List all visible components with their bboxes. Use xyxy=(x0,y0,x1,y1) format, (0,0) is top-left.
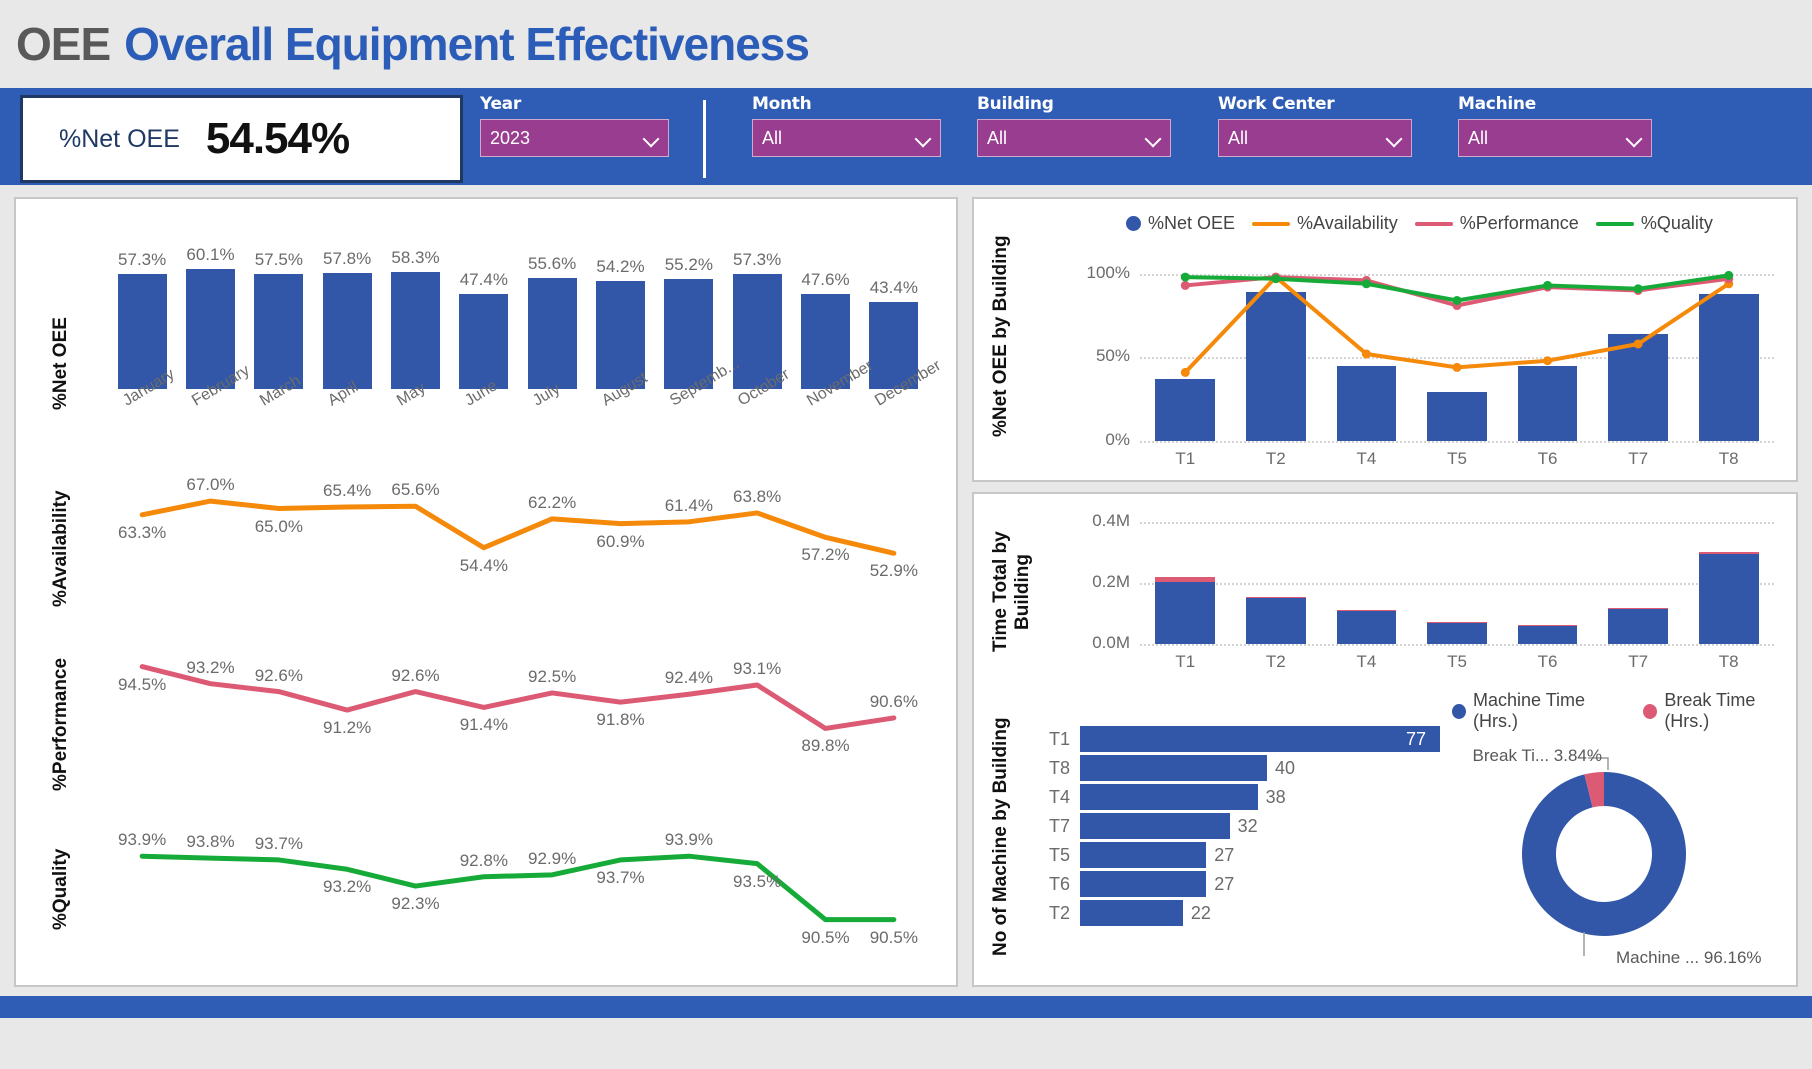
bar-value-label: 47.6% xyxy=(801,270,849,290)
chart-axis-title-net-oee: %Net OEE xyxy=(50,269,72,459)
line-value-label: 62.2% xyxy=(528,493,576,513)
legend-marker-quality xyxy=(1596,222,1634,226)
donut-label-break-time: Break Ti... 3.84% xyxy=(1222,746,1602,766)
page-header: OEE Overall Equipment Effectiveness xyxy=(0,0,1812,88)
hbar-category-label: T4 xyxy=(1034,787,1070,808)
legend-marker-availability xyxy=(1252,222,1290,226)
page-title: Overall Equipment Effectiveness xyxy=(124,17,809,71)
line-value-label: 92.6% xyxy=(255,666,303,686)
chart-machine-vs-break-donut[interactable]: Break Ti... 3.84%Machine ... 96.16% xyxy=(1444,726,1794,956)
line-value-label: 63.3% xyxy=(118,523,166,543)
donut-label-machine-time: Machine ... 96.16% xyxy=(1616,948,1762,968)
panel-bottom-metrics: Time Total by Building No of Machine by … xyxy=(972,492,1798,987)
line-value-label: 93.5% xyxy=(733,872,781,892)
slicer-month: Month All xyxy=(752,94,941,157)
legend-label-quality[interactable]: %Quality xyxy=(1641,213,1713,234)
hbar-category-label: T8 xyxy=(1034,758,1070,779)
legend-label-availability[interactable]: %Availability xyxy=(1297,213,1398,234)
panel-monthly-trends: %Net OEE %Availability %Performance %Qua… xyxy=(14,197,958,987)
line-value-label: 67.0% xyxy=(186,475,234,495)
bar-net-oee[interactable] xyxy=(459,294,508,389)
bar-value-label: 58.3% xyxy=(391,248,439,268)
line-value-label: 91.8% xyxy=(596,710,644,730)
slicer-year-value: 2023 xyxy=(490,128,530,149)
slicer-month-dropdown[interactable]: All xyxy=(752,119,941,157)
chart-axis-title-net-oee-by-building: %Net OEE by Building xyxy=(990,211,1012,461)
legend-marker-performance xyxy=(1415,222,1453,226)
line-value-label: 94.5% xyxy=(118,675,166,695)
hbar-category-label: T7 xyxy=(1034,816,1070,837)
bar-machine-count[interactable] xyxy=(1080,842,1206,868)
gridline xyxy=(1140,583,1774,585)
slicer-work-center-value: All xyxy=(1228,128,1248,149)
line-value-label: 65.0% xyxy=(255,517,303,537)
bar-machine-count[interactable] xyxy=(1080,871,1206,897)
slicer-machine: Machine All xyxy=(1458,94,1652,157)
hbar-category-label: T6 xyxy=(1034,874,1070,895)
line-series-availability xyxy=(108,444,928,604)
bar-value-label: 55.2% xyxy=(665,255,713,275)
hbar-category-label: T1 xyxy=(1034,729,1070,750)
kpi-label: %Net OEE xyxy=(59,125,180,154)
slicer-building-value: All xyxy=(987,128,1007,149)
hbar-value-label: 38 xyxy=(1266,787,1286,808)
bar-break-time[interactable] xyxy=(1427,622,1487,623)
dashboard-body: %Net OEE %Availability %Performance %Qua… xyxy=(0,185,1812,1069)
bar-value-label: 60.1% xyxy=(186,245,234,265)
bar-value-label: 57.3% xyxy=(733,250,781,270)
slicer-work-center: Work Center All xyxy=(1218,94,1412,157)
x-axis-tick-building: T2 xyxy=(1231,652,1322,672)
x-axis-tick-building: T7 xyxy=(1593,652,1684,672)
line-value-label: 91.4% xyxy=(460,715,508,735)
page-title-prefix: OEE xyxy=(16,17,110,71)
bar-break-time[interactable] xyxy=(1337,610,1397,611)
slicer-month-label: Month xyxy=(752,94,941,114)
kpi-card-net-oee: %Net OEE 54.54% xyxy=(20,95,463,183)
chevron-down-icon xyxy=(644,131,659,146)
line-value-label: 93.7% xyxy=(255,834,303,854)
line-value-label: 89.8% xyxy=(801,736,849,756)
slicer-work-center-dropdown[interactable]: All xyxy=(1218,119,1412,157)
bar-machine-time[interactable] xyxy=(1699,554,1759,644)
chart-axis-title-availability: %Availability xyxy=(50,454,72,644)
chart-performance-monthly[interactable]: 94.5%93.2%92.6%91.2%92.6%91.4%92.5%91.8%… xyxy=(108,614,928,779)
bar-net-oee[interactable] xyxy=(254,274,303,389)
bar-value-label: 57.3% xyxy=(118,250,166,270)
bar-break-time[interactable] xyxy=(1518,625,1578,626)
bar-machine-time[interactable] xyxy=(1155,582,1215,644)
legend-label-net-oee[interactable]: %Net OEE xyxy=(1148,213,1235,234)
line-value-label: 92.6% xyxy=(391,666,439,686)
legend-marker-machine-time xyxy=(1452,704,1466,719)
line-value-label: 92.8% xyxy=(460,851,508,871)
chart-net-oee-monthly[interactable]: 57.3%60.1%57.5%57.8%58.3%47.4%55.6%54.2%… xyxy=(108,219,928,389)
bar-machine-time[interactable] xyxy=(1608,609,1668,644)
bar-machine-count[interactable] xyxy=(1080,784,1258,810)
chevron-down-icon xyxy=(1387,131,1402,146)
slicer-machine-value: All xyxy=(1468,128,1488,149)
panel-net-oee-by-building: %Net OEE by Building %Net OEE %Availabil… xyxy=(972,197,1798,482)
hbar-value-label: 32 xyxy=(1238,816,1258,837)
line-value-label: 93.7% xyxy=(596,868,644,888)
filter-divider xyxy=(703,100,706,178)
bar-value-label: 57.8% xyxy=(323,249,371,269)
y-axis-tick: 0.0M xyxy=(1084,633,1130,653)
slicer-work-center-label: Work Center xyxy=(1218,94,1412,114)
line-value-label: 92.9% xyxy=(528,849,576,869)
hbar-category-label: T2 xyxy=(1034,903,1070,924)
chart-axis-title-time-total: Time Total by Building xyxy=(990,502,1034,682)
bar-machine-time[interactable] xyxy=(1337,611,1397,644)
chart-axis-title-quality: %Quality xyxy=(50,809,72,969)
footer-bar xyxy=(0,996,1812,1018)
gridline xyxy=(1140,644,1774,646)
line-value-label: 93.9% xyxy=(665,830,713,850)
line-value-label: 93.2% xyxy=(186,658,234,678)
line-value-label: 93.9% xyxy=(118,830,166,850)
line-value-label: 90.5% xyxy=(801,928,849,948)
line-value-label: 57.2% xyxy=(801,545,849,565)
bar-break-time[interactable] xyxy=(1608,608,1668,609)
chart-time-total-by-building[interactable]: 0.0M0.2M0.4MT1T2T4T5T6T7T8 xyxy=(1084,508,1774,678)
bar-break-time[interactable] xyxy=(1246,597,1306,598)
chevron-down-icon xyxy=(1627,131,1642,146)
bar-value-label: 43.4% xyxy=(870,278,918,298)
bar-net-oee[interactable] xyxy=(391,272,440,389)
hbar-category-label: T5 xyxy=(1034,845,1070,866)
line-overlay-building xyxy=(1084,247,1774,477)
legend-marker-break-time xyxy=(1643,704,1657,719)
chart-axis-title-no-of-machine: No of Machine by Building xyxy=(990,712,1012,962)
line-value-label: 93.1% xyxy=(733,659,781,679)
line-value-label: 54.4% xyxy=(460,556,508,576)
bar-machine-count[interactable] xyxy=(1080,900,1183,926)
line-value-label: 92.4% xyxy=(665,668,713,688)
x-axis-tick-building: T5 xyxy=(1412,652,1503,672)
chart-quality-monthly[interactable]: 93.9%93.8%93.7%93.2%92.3%92.8%92.9%93.7%… xyxy=(108,799,928,969)
filter-bar: %Net OEE 54.54% Year 2023 Month All Buil… xyxy=(0,88,1812,185)
line-value-label: 91.2% xyxy=(323,718,371,738)
y-axis-tick: 0.4M xyxy=(1084,511,1130,531)
hbar-value-label: 22 xyxy=(1191,903,1211,924)
chart-net-oee-x-axis: JanuaryFebruaryMarchAprilMayJuneJulyAugu… xyxy=(108,389,928,449)
bar-machine-time[interactable] xyxy=(1518,626,1578,644)
line-value-label: 90.5% xyxy=(870,928,918,948)
gridline xyxy=(1140,522,1774,524)
hbar-value-label: 27 xyxy=(1214,874,1234,895)
bar-machine-time[interactable] xyxy=(1427,623,1487,644)
legend-label-performance[interactable]: %Performance xyxy=(1460,213,1579,234)
bar-net-oee[interactable] xyxy=(528,278,577,389)
bar-break-time[interactable] xyxy=(1155,577,1215,581)
slicer-building: Building All xyxy=(977,94,1171,157)
chart-axis-title-performance: %Performance xyxy=(50,619,72,829)
line-value-label: 52.9% xyxy=(870,561,918,581)
line-value-label: 93.8% xyxy=(186,832,234,852)
slicer-building-label: Building xyxy=(977,94,1171,114)
line-value-label: 65.4% xyxy=(323,481,371,501)
bar-machine-count[interactable] xyxy=(1080,813,1230,839)
line-value-label: 63.8% xyxy=(733,487,781,507)
bar-value-label: 57.5% xyxy=(255,250,303,270)
chevron-down-icon xyxy=(916,131,931,146)
bar-net-oee[interactable] xyxy=(323,273,372,389)
slicer-year-dropdown[interactable]: 2023 xyxy=(480,119,669,157)
right-column: %Net OEE by Building %Net OEE %Availabil… xyxy=(972,197,1798,1069)
chart-net-oee-by-building[interactable]: 0%50%100%T1T2T4T5T6T7T8 xyxy=(1084,247,1774,477)
line-value-label: 61.4% xyxy=(665,496,713,516)
bar-value-label: 47.4% xyxy=(460,270,508,290)
slicer-building-dropdown[interactable]: All xyxy=(977,119,1171,157)
slicer-month-value: All xyxy=(762,128,782,149)
legend-marker-net-oee xyxy=(1126,216,1141,231)
legend-building-chart: %Net OEE %Availability %Performance %Qua… xyxy=(1126,213,1713,234)
kpi-value: 54.54% xyxy=(206,114,349,164)
bar-value-label: 55.6% xyxy=(528,254,576,274)
line-value-label: 92.3% xyxy=(391,894,439,914)
x-axis-tick-building: T6 xyxy=(1502,652,1593,672)
slicer-machine-dropdown[interactable]: All xyxy=(1458,119,1652,157)
line-value-label: 65.6% xyxy=(391,480,439,500)
x-axis-tick-building: T4 xyxy=(1321,652,1412,672)
chevron-down-icon xyxy=(1146,131,1161,146)
slicer-year-label: Year xyxy=(480,94,669,114)
line-value-label: 60.9% xyxy=(596,532,644,552)
chart-availability-monthly[interactable]: 63.3%67.0%65.0%65.4%65.6%54.4%62.2%60.9%… xyxy=(108,444,928,604)
slicer-year: Year 2023 xyxy=(480,94,669,157)
bar-value-label: 54.2% xyxy=(596,257,644,277)
line-value-label: 90.6% xyxy=(870,692,918,712)
line-value-label: 92.5% xyxy=(528,667,576,687)
slicer-machine-label: Machine xyxy=(1458,94,1652,114)
hbar-value-label: 27 xyxy=(1214,845,1234,866)
y-axis-tick: 0.2M xyxy=(1084,572,1130,592)
x-axis-tick-building: T1 xyxy=(1140,652,1231,672)
bar-machine-time[interactable] xyxy=(1246,598,1306,644)
x-axis-tick-building: T8 xyxy=(1683,652,1774,672)
bar-break-time[interactable] xyxy=(1699,552,1759,554)
line-value-label: 93.2% xyxy=(323,877,371,897)
